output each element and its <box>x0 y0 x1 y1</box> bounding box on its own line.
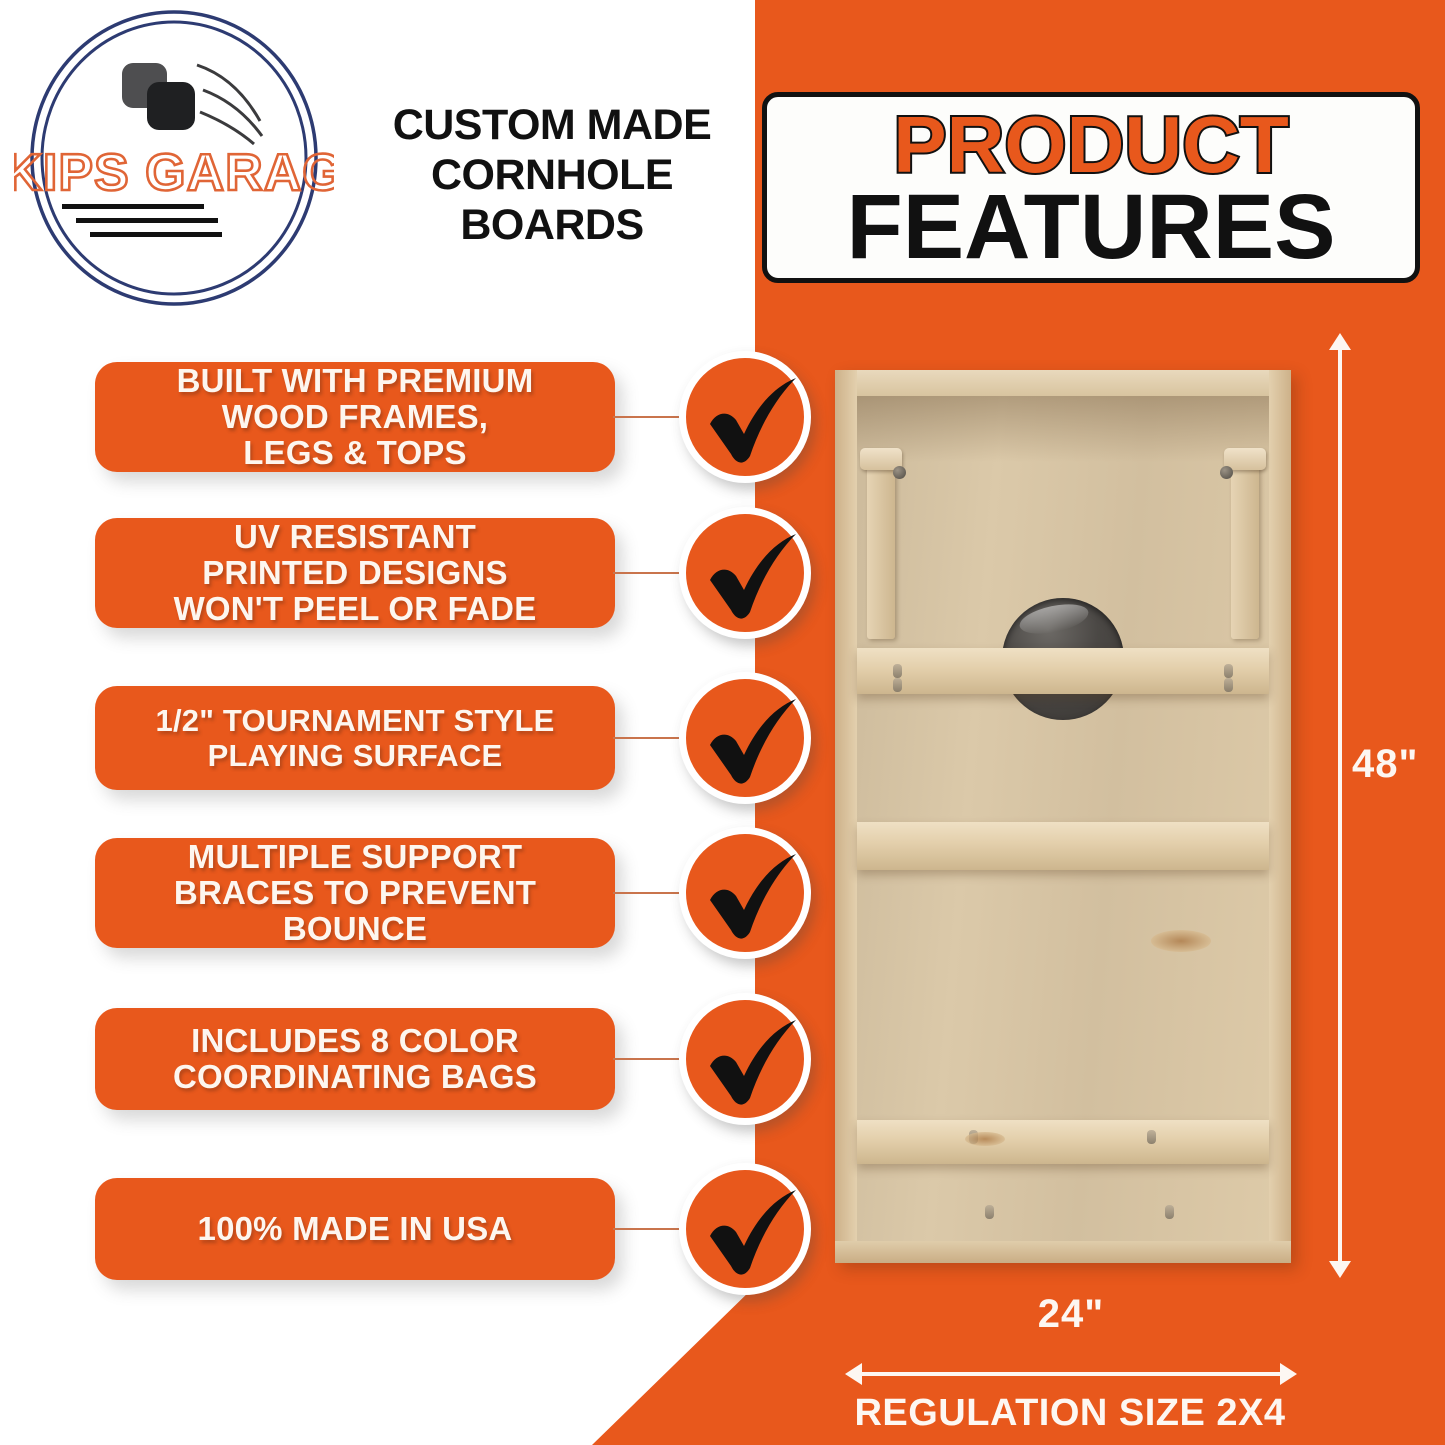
feature-pill-premium-wood[interactable]: BUILT WITH PREMIUM WOOD FRAMES, LEGS & T… <box>95 362 615 472</box>
wood-knot <box>1151 930 1211 952</box>
feature-pill-playing-surface[interactable]: 1/2" TOURNAMENT STYLE PLAYING SURFACE <box>95 686 615 790</box>
frame-bottom-rail <box>835 1241 1291 1263</box>
cornhole-board-underside-photo <box>835 370 1291 1263</box>
feature-row-support-braces: MULTIPLE SUPPORT BRACES TO PREVENT BOUNC… <box>0 838 830 948</box>
leg-bolt-left <box>893 466 906 479</box>
cavity-shadow <box>857 396 1269 462</box>
feature-pill-label: MULTIPLE SUPPORT BRACES TO PREVENT BOUNC… <box>174 839 536 947</box>
product-features-badge: PRODUCT FEATURES <box>762 92 1420 283</box>
feature-row-premium-wood: BUILT WITH PREMIUM WOOD FRAMES, LEGS & T… <box>0 362 830 472</box>
feature-row-uv-resistant: UV RESISTANT PRINTED DESIGNS WON'T PEEL … <box>0 518 830 628</box>
width-dimension-arrow <box>860 1372 1282 1376</box>
support-brace-upper <box>857 648 1269 694</box>
headline-line-1: CUSTOM MADE <box>352 100 752 150</box>
arrow-right-icon <box>1280 1363 1297 1385</box>
skips-garage-logo: SKIPS GARAGE <box>14 8 334 308</box>
badge-word-product: PRODUCT <box>893 107 1289 183</box>
headline-line-2: CORNHOLE <box>352 150 752 200</box>
feature-pill-made-in-usa[interactable]: 100% MADE IN USA <box>95 1178 615 1280</box>
feature-pill-label: BUILT WITH PREMIUM WOOD FRAMES, LEGS & T… <box>177 363 534 471</box>
frame-left-rail <box>835 370 857 1263</box>
feature-pill-support-braces[interactable]: MULTIPLE SUPPORT BRACES TO PREVENT BOUNC… <box>95 838 615 948</box>
board-cavity <box>857 396 1269 1241</box>
feature-row-playing-surface: 1/2" TOURNAMENT STYLE PLAYING SURFACE <box>0 686 830 790</box>
arrow-up-icon <box>1329 333 1351 350</box>
page-title: CUSTOM MADE CORNHOLE BOARDS <box>352 100 752 250</box>
folding-leg-left <box>867 454 895 639</box>
check-icon <box>679 1163 811 1295</box>
arrow-down-icon <box>1329 1261 1351 1278</box>
check-icon <box>679 507 811 639</box>
check-icon <box>679 351 811 483</box>
leg-bolt-right <box>1220 466 1233 479</box>
wood-knot <box>965 1132 1005 1146</box>
feature-pill-color-bags[interactable]: INCLUDES 8 COLOR COORDINATING BAGS <box>95 1008 615 1110</box>
feature-row-color-bags: INCLUDES 8 COLOR COORDINATING BAGS <box>0 1008 830 1110</box>
height-dimension-arrow <box>1338 348 1342 1263</box>
check-icon <box>679 827 811 959</box>
support-brace-middle <box>857 822 1269 870</box>
arrow-left-icon <box>845 1363 862 1385</box>
feature-pill-label: 1/2" TOURNAMENT STYLE PLAYING SURFACE <box>156 703 555 773</box>
feature-pill-uv-resistant[interactable]: UV RESISTANT PRINTED DESIGNS WON'T PEEL … <box>95 518 615 628</box>
regulation-size-label: REGULATION SIZE 2X4 <box>780 1392 1360 1435</box>
badge-word-features: FEATURES <box>847 185 1336 269</box>
height-dimension-label: 48" <box>1352 742 1418 787</box>
frame-top-rail <box>835 370 1291 396</box>
feature-pill-label: INCLUDES 8 COLOR COORDINATING BAGS <box>173 1023 537 1095</box>
svg-text:SKIPS GARAGE: SKIPS GARAGE <box>14 144 334 202</box>
check-icon <box>679 993 811 1125</box>
folding-leg-right <box>1231 454 1259 639</box>
feature-row-made-in-usa: 100% MADE IN USA <box>0 1178 830 1280</box>
frame-right-rail <box>1269 370 1291 1263</box>
infographic-canvas: SKIPS GARAGE CUSTOM MADE CORNHOLE BOARDS… <box>0 0 1445 1445</box>
headline-line-3: BOARDS <box>352 200 752 250</box>
feature-pill-label: UV RESISTANT PRINTED DESIGNS WON'T PEEL … <box>174 519 537 627</box>
support-brace-lower <box>857 1120 1269 1164</box>
width-dimension-label: 24" <box>860 1292 1282 1337</box>
check-icon <box>679 672 811 804</box>
feature-pill-label: 100% MADE IN USA <box>198 1211 513 1247</box>
